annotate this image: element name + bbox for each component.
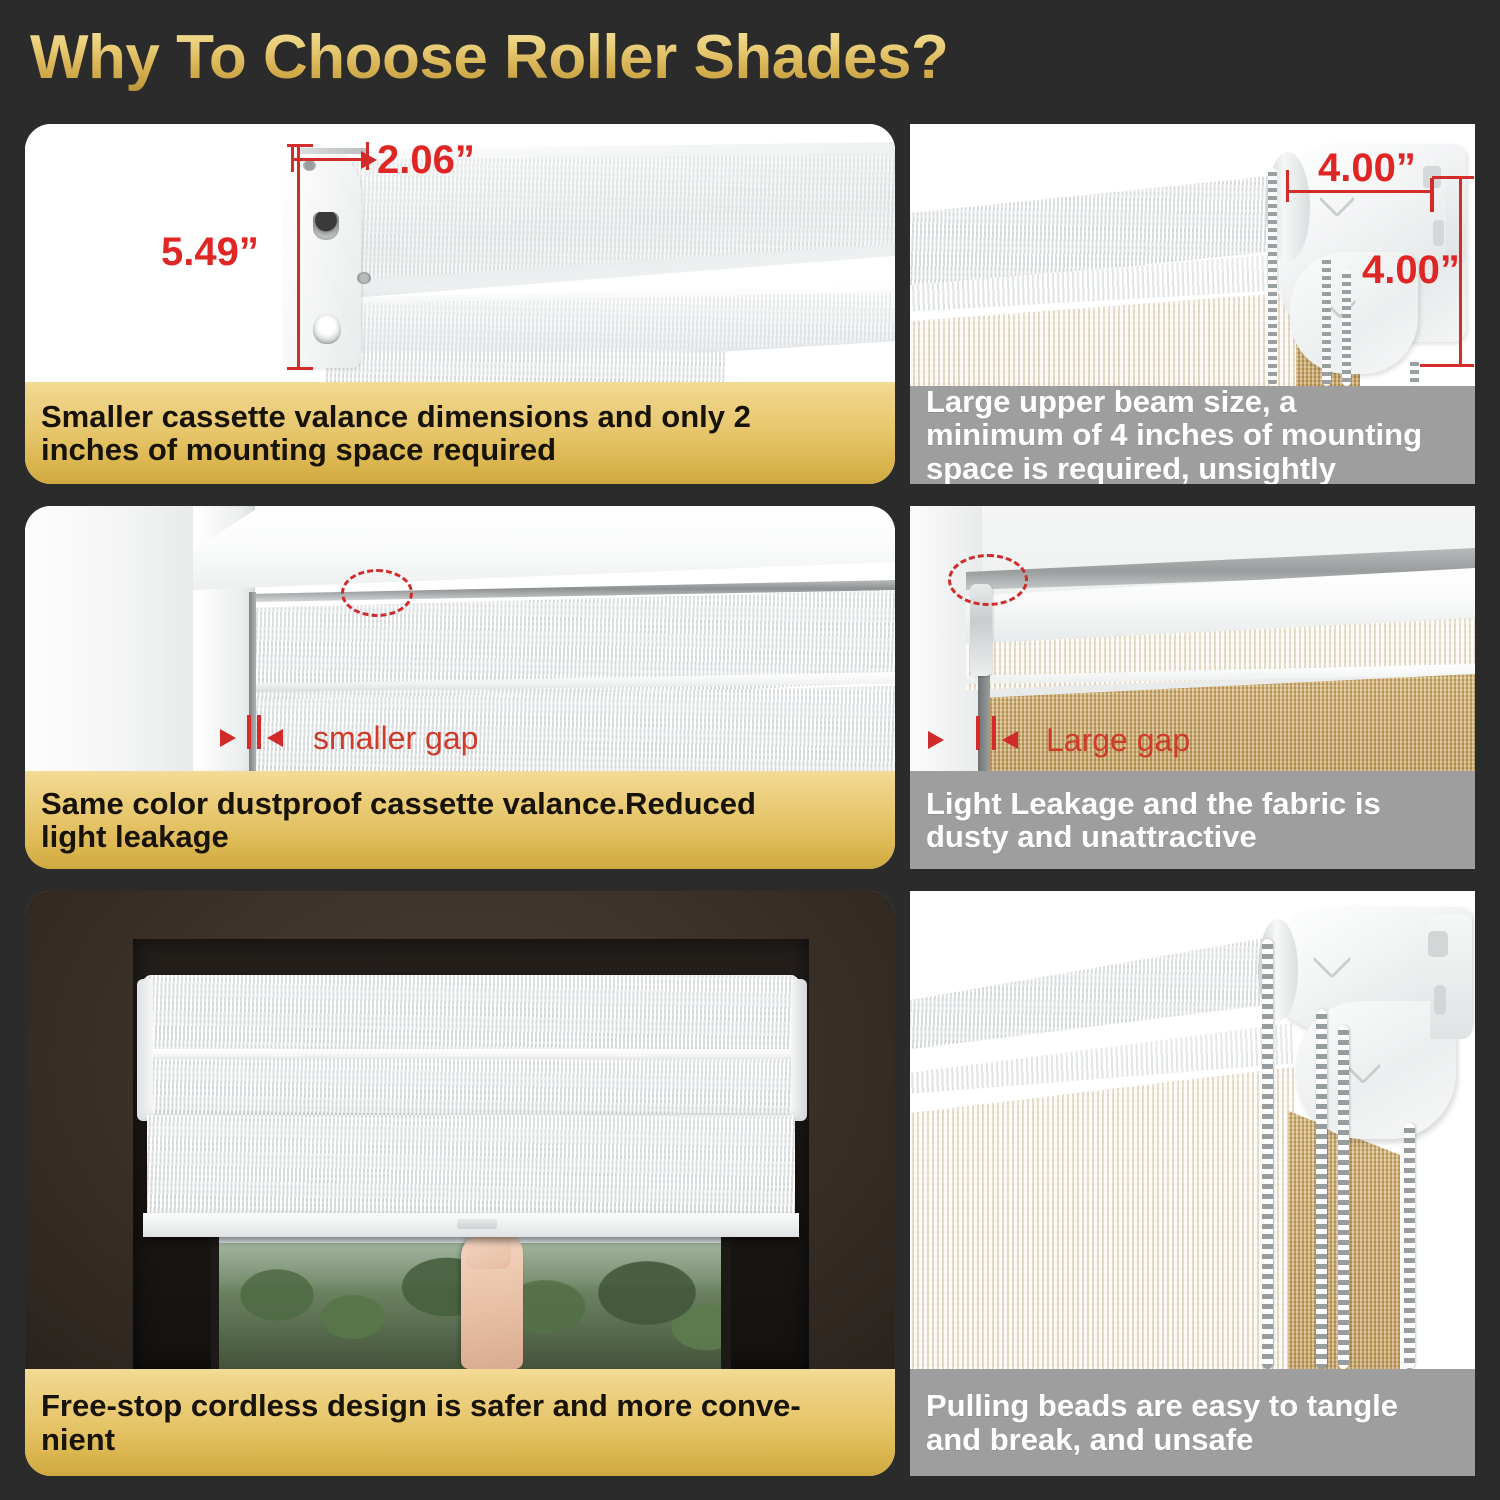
- infographic-page: Why To Choose Roller Shades?: [0, 0, 1500, 1500]
- photo-cassette-valance: 2.06” 5.49”: [25, 124, 895, 382]
- page-title: Why To Choose Roller Shades?: [30, 22, 1130, 94]
- end-cap-top-ridge: [297, 148, 369, 154]
- bracket-notch-2: [1433, 220, 1444, 246]
- window-wall-left: [25, 506, 197, 771]
- bead-chain-2: [1322, 256, 1331, 386]
- caption-mid-left: Same color dustproof cassette valance.Re…: [25, 771, 895, 869]
- dim-width-label: 2.06”: [377, 138, 475, 183]
- bead-chain-a: [1262, 939, 1273, 1369]
- highlight-circle-large-gap: [948, 554, 1028, 606]
- gap-label-large: Large gap: [1046, 722, 1190, 759]
- cassette-end-left: [137, 979, 153, 1121]
- photo-window-cassette-closeup: smaller gap: [25, 506, 895, 771]
- panel-bottom-left: Free-stop cordless design is safer and m…: [25, 891, 895, 1476]
- photo-large-beam-bracket: 4.00” 4.00”: [910, 124, 1475, 386]
- dim-width-arrow-right: [361, 151, 377, 169]
- end-cap-knob-lower: [313, 314, 341, 344]
- dim-beam-height-tick-bottom: [1420, 364, 1474, 367]
- highlight-circle-small-gap: [341, 569, 413, 617]
- photo-window-cordless-shade: [25, 891, 895, 1369]
- bead-chain-c: [1338, 1025, 1349, 1369]
- dim-height-label: 5.49”: [161, 230, 259, 275]
- dim-height-line: [297, 144, 300, 370]
- panel-top-right: 4.00” 4.00” Large upper beam size, a min…: [910, 124, 1475, 484]
- dim-height-tick-bottom: [287, 367, 313, 370]
- shade-bottom-tab: [457, 1219, 497, 1229]
- caption-mid-left-text: Same color dustproof cassette valance.Re…: [41, 787, 756, 853]
- bead-chain-d: [1404, 1123, 1415, 1369]
- end-cap-screw-top: [303, 160, 316, 171]
- gap-arrow-left: [267, 729, 283, 747]
- large-gap-arrow-right: [928, 731, 944, 749]
- caption-bottom-left: Free-stop cordless design is safer and m…: [25, 1369, 895, 1476]
- caption-top-right: Large upper beam size, a minimum of 4 in…: [910, 386, 1475, 484]
- gap-tick-a: [247, 715, 251, 749]
- dim-width-line: [291, 158, 369, 161]
- caption-top-left-text: Smaller cassette valance dimensions and …: [41, 400, 751, 466]
- dim-beam-height-tick-top: [1432, 176, 1474, 179]
- gap-arrow-right: [220, 729, 236, 747]
- dim-beam-width-tick-left: [1286, 170, 1289, 202]
- large-gap-tick-b: [992, 716, 996, 750]
- panel-mid-left: smaller gap Same color dustproof cassett…: [25, 506, 895, 869]
- bead-chain-b: [1316, 1009, 1327, 1369]
- large-gap-arrow-left: [1002, 731, 1018, 749]
- caption-top-left: Smaller cassette valance dimensions and …: [25, 382, 895, 484]
- bead-chain-3: [1342, 270, 1351, 386]
- dim-beam-width-tick-right: [1430, 178, 1434, 212]
- gap-label-smaller: smaller gap: [313, 720, 478, 757]
- photo-bead-chain-shade: [910, 891, 1475, 1369]
- dim-height-tick-top: [287, 144, 313, 147]
- bead-chain-1: [1268, 168, 1277, 386]
- dim-beam-height-label: 4.00”: [1362, 248, 1460, 293]
- photo-roller-tube-tan-fabric: Large gap: [910, 506, 1475, 771]
- caption-mid-right-text: Light Leakage and the fabric is dusty an…: [926, 787, 1381, 853]
- panel-top-left: 2.06” 5.49” Smaller cassette valance dim…: [25, 124, 895, 484]
- caption-bottom-left-text: Free-stop cordless design is safer and m…: [41, 1389, 801, 1455]
- bracket-slot-top: [1428, 931, 1448, 957]
- dim-width-tick-right: [366, 142, 369, 170]
- cream-main-fabric: [910, 1067, 1294, 1369]
- window-mullion-right: [721, 1221, 731, 1369]
- dim-beam-width-label: 4.00”: [1318, 146, 1416, 191]
- caption-bottom-right: Pulling beads are easy to tangle and bre…: [910, 1369, 1475, 1476]
- dim-width-tick-left: [291, 146, 294, 172]
- caption-bottom-right-text: Pulling beads are easy to tangle and bre…: [926, 1389, 1398, 1455]
- shade-cassette-roll: [143, 1059, 799, 1121]
- caption-top-right-text: Large upper beam size, a minimum of 4 in…: [926, 385, 1422, 484]
- window-frame-top-molding: [193, 506, 895, 590]
- cassette-end-right: [791, 979, 807, 1121]
- large-gap-tick-a: [976, 716, 980, 750]
- panel-mid-right: Large gap Light Leakage and the fabric i…: [910, 506, 1475, 869]
- end-cap-slot-upper: [313, 212, 339, 240]
- bracket-slot-mid: [1434, 985, 1446, 1015]
- window-mullion: [211, 1221, 219, 1369]
- bead-chain-4: [1410, 358, 1419, 386]
- shade-fabric-drop: [325, 352, 725, 382]
- end-cap-screw-mid: [357, 272, 371, 284]
- caption-mid-right: Light Leakage and the fabric is dusty an…: [910, 771, 1475, 869]
- panel-bottom-right: Pulling beads are easy to tangle and bre…: [910, 891, 1475, 1476]
- gap-tick-b: [257, 715, 261, 749]
